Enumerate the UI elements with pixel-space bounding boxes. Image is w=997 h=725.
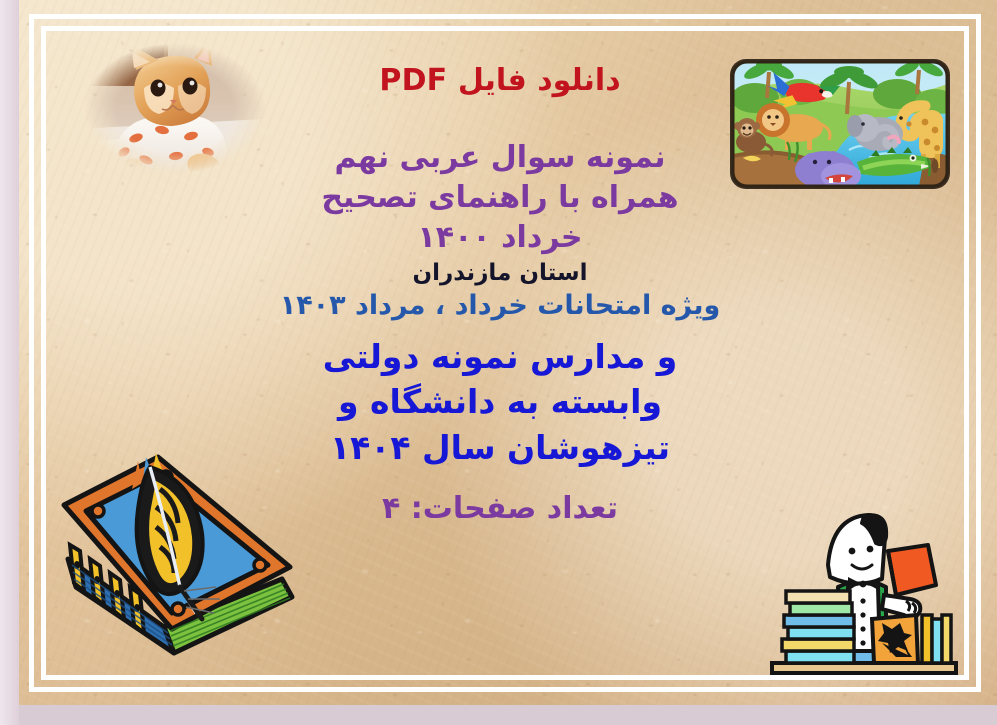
left-edge-strip (0, 0, 19, 725)
school-line-2: وابسته به دانشگاه و (150, 384, 850, 420)
exam-title-group: نمونه سوال عربی نهم همراه با راهنمای تصح… (150, 141, 850, 254)
title-line-3: خرداد ۱۴۰۰ (150, 221, 850, 254)
exam-period-label: ویژه امتحانات خرداد ، مرداد ۱۴۰۳ (150, 291, 850, 321)
title-line-2: همراه با راهنمای تصحیح (150, 181, 850, 214)
download-pdf-label[interactable]: دانلود فایل PDF (150, 64, 850, 97)
scholar-with-books (764, 503, 964, 681)
page-count-label: تعداد صفحات: ۴ (150, 492, 850, 525)
province-label: استان مازندران (150, 261, 850, 286)
school-type-group: و مدارس نمونه دولتی وابسته به دانشگاه و … (150, 339, 850, 466)
title-line-1: نمونه سوال عربی نهم (150, 141, 850, 174)
school-line-3: تیزهوشان سال ۱۴۰۴ (150, 430, 850, 466)
poster-page: دانلود فایل PDF نمونه سوال عربی نهم همرا… (0, 0, 997, 725)
school-line-1: و مدارس نمونه دولتی (150, 339, 850, 375)
poster-text-block: دانلود فایل PDF نمونه سوال عربی نهم همرا… (150, 64, 850, 525)
